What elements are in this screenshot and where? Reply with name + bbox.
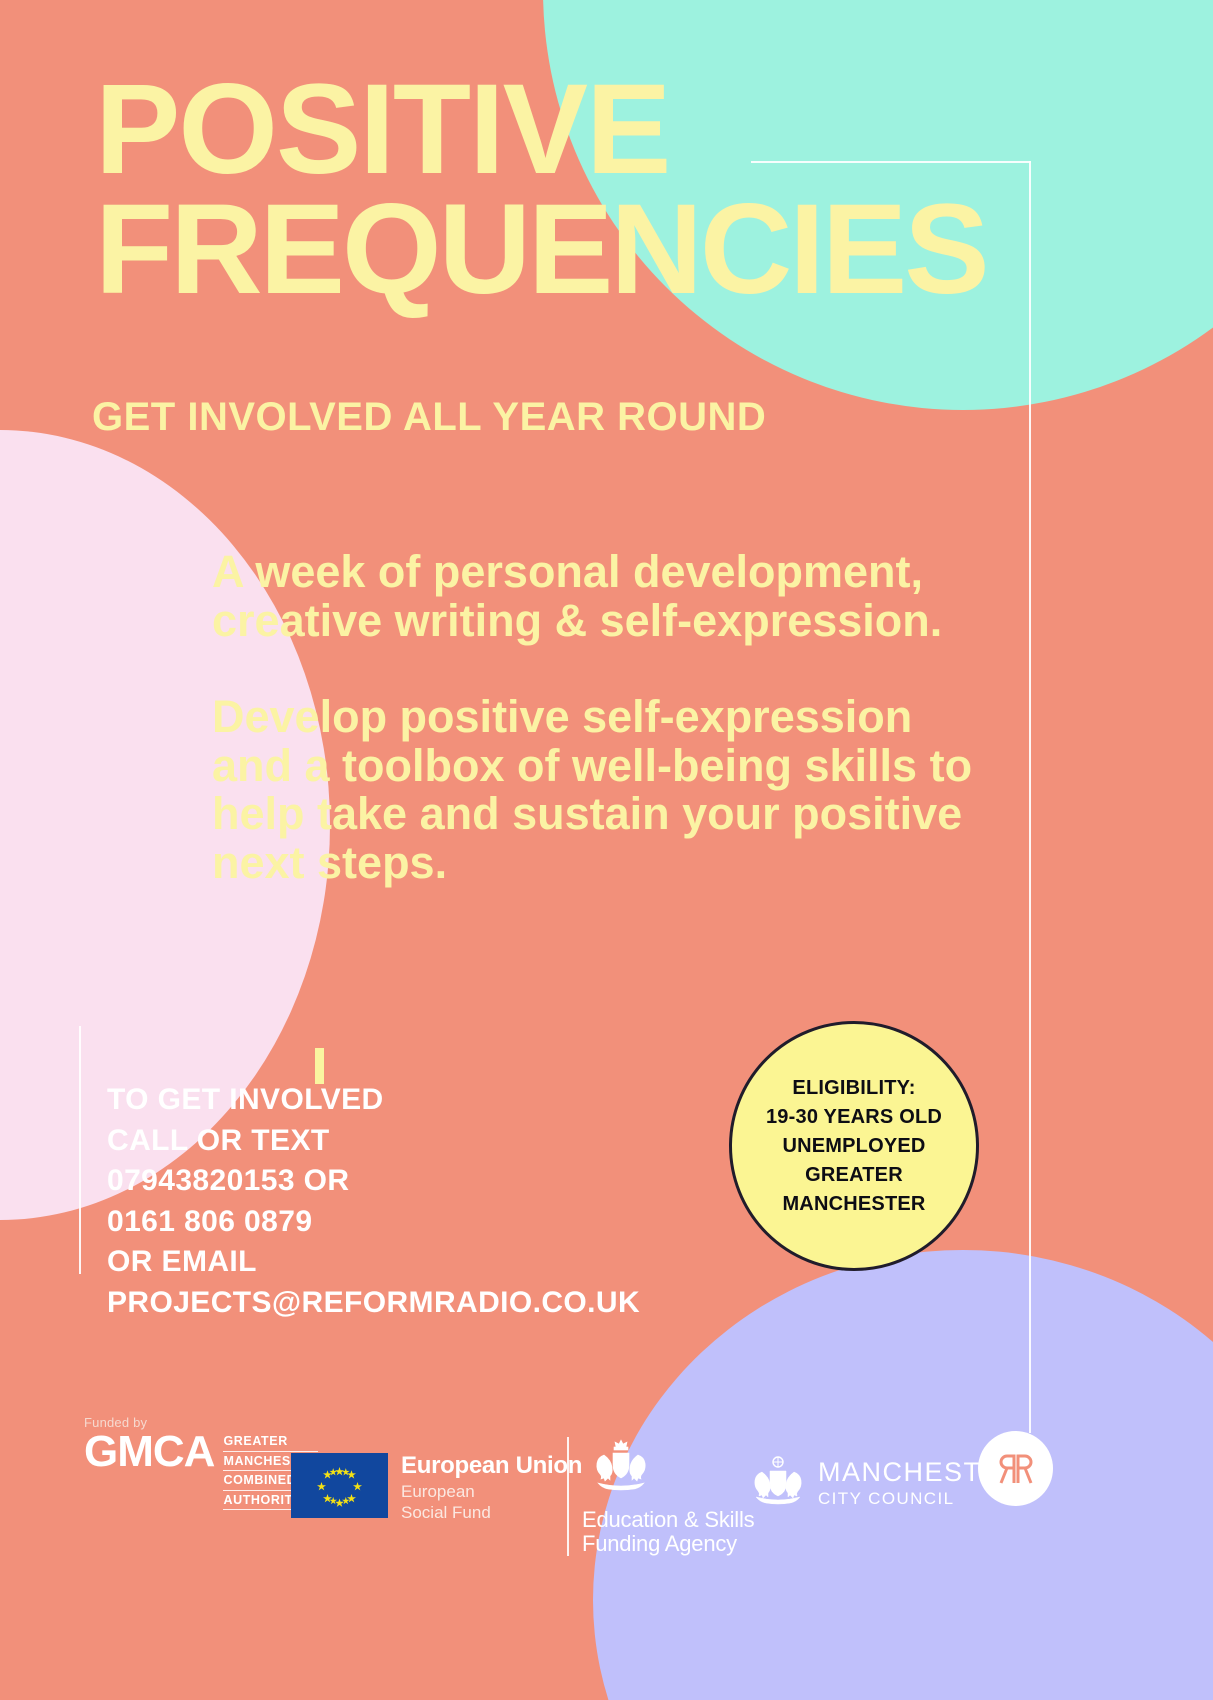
manchester-coat-of-arms-icon (750, 1455, 806, 1512)
contact-phone-mobile[interactable]: 07943820153 OR (107, 1161, 640, 1202)
eu-title: European Union (401, 1453, 582, 1478)
contact-phone-landline[interactable]: 0161 806 0879 (107, 1202, 640, 1243)
badge-line-3: UNEMPLOYED (766, 1132, 942, 1161)
contact-email[interactable]: PROJECTS@REFORMRADIO.CO.UK (107, 1283, 640, 1324)
contact-line-call-or-text: CALL OR TEXT (107, 1121, 640, 1162)
contact-block: TO GET INVOLVED CALL OR TEXT 07943820153… (107, 1080, 640, 1323)
subtitle: GET INVOLVED ALL YEAR ROUND (92, 395, 766, 440)
eu-flag-icon (291, 1453, 388, 1518)
esfa-name-line-2: Funding Agency (582, 1532, 755, 1556)
esfa-divider (567, 1437, 569, 1556)
badge-line-1: ELIGIBILITY: (766, 1074, 942, 1103)
body-copy: A week of personal development, creative… (212, 548, 1002, 888)
badge-line-4: GREATER (766, 1161, 942, 1190)
royal-crest-icon (582, 1437, 755, 1502)
badge-line-2: 19-30 YEARS OLD (766, 1103, 942, 1132)
eu-subtitle-line-2: Social Fund (401, 1502, 582, 1523)
body-paragraph-2: Develop positive self-expression and a t… (212, 693, 1002, 887)
european-union-logo: European Union European Social Fund (291, 1453, 582, 1524)
eligibility-badge-text: ELIGIBILITY: 19-30 YEARS OLD UNEMPLOYED … (766, 1074, 942, 1219)
gmca-acronym: GMCA (84, 1431, 214, 1473)
contact-line-get-involved: TO GET INVOLVED (107, 1080, 640, 1121)
eu-subtitle-line-1: European (401, 1481, 582, 1502)
poster-content: POSITIVE FREQUENCIES GET INVOLVED ALL YE… (0, 0, 1213, 1700)
page-title: POSITIVE FREQUENCIES (95, 70, 1085, 311)
esfa-name-line-1: Education & Skills (582, 1508, 755, 1532)
title-line-2: FREQUENCIES (95, 190, 1085, 310)
body-paragraph-1: A week of personal development, creative… (212, 548, 1002, 645)
contact-line-or-email: OR EMAIL (107, 1242, 640, 1283)
gmca-logo: Funded by GMCA GREATER MANCHESTER COMBIN… (84, 1415, 318, 1513)
esfa-logo: Education & Skills Funding Agency (567, 1437, 755, 1556)
badge-line-5: MANCHESTER (766, 1190, 942, 1219)
gmca-expansion-line-1: GREATER (223, 1435, 317, 1452)
poster-canvas: POSITIVE FREQUENCIES GET INVOLVED ALL YE… (0, 0, 1213, 1700)
eligibility-badge: ELIGIBILITY: 19-30 YEARS OLD UNEMPLOYED … (729, 1021, 979, 1271)
reform-radio-r-monogram-icon[interactable] (978, 1431, 1053, 1506)
